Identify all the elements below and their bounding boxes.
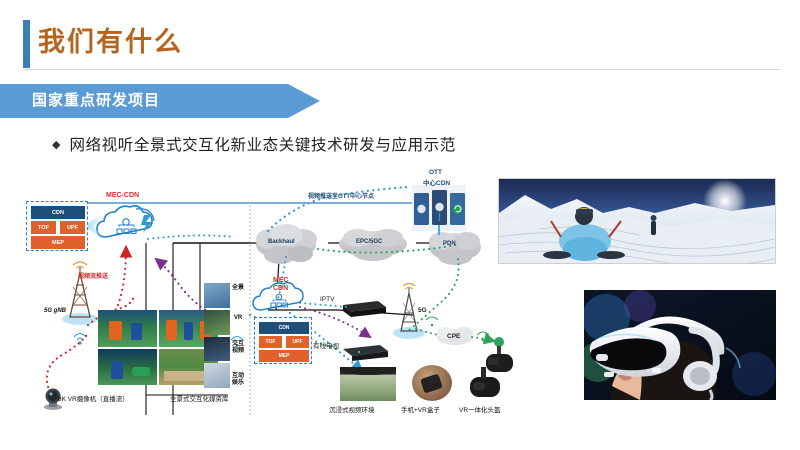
label-mec-cdn-left: MEC-CDN: [106, 192, 139, 199]
slide-header: 我们有什么: [0, 14, 800, 70]
pdn-cloud-shape: [429, 232, 481, 265]
immersive-environment-photo: [340, 367, 396, 401]
category-entertainment: 互动娱乐: [230, 373, 246, 386]
label-mec-right-line1: MEC: [273, 277, 289, 284]
label-video-push: 视频流推送: [78, 271, 108, 280]
core-cell-mep: MEP: [259, 350, 309, 362]
bullet-row: ◆ 网络视听全景式交互化新业态关键技术研发与应用示范: [52, 132, 456, 156]
section-banner-label: 国家重点研发项目: [32, 84, 160, 118]
media-thumb-2: [204, 310, 230, 335]
header-divider: [23, 69, 780, 70]
media-thumb-3: [204, 337, 230, 362]
caption-vr-headset: VR一体化头盔: [459, 404, 501, 414]
cable-tv-box-shape: [343, 345, 388, 361]
category-vr: VR: [230, 315, 246, 322]
label-backhaul: Backhaul: [268, 239, 295, 245]
core-mec-box: CDN TOF UPF MEP: [254, 317, 312, 364]
category-panorama: 全景: [230, 285, 246, 292]
label-iptv: IPTV: [320, 296, 334, 303]
label-cpe: CPE: [447, 333, 460, 340]
vr-allinone-photo: [464, 367, 504, 401]
edge-cell-tof: TOF: [31, 221, 56, 234]
label-5g: 5G: [418, 307, 427, 314]
core-cell-upf: UPF: [286, 336, 309, 348]
soccer-thumb-1: [98, 310, 157, 347]
core-cell-tof: TOF: [259, 336, 282, 348]
soccer-thumbnail-grid: [98, 310, 218, 385]
edge-cell-mep: MEP: [31, 236, 85, 249]
phone-vr-box-photo: [412, 365, 452, 401]
caption-phone-vr: 手机+VR盒子: [401, 404, 440, 414]
label-video-push-ott: 视频推送至OTT中心节点: [308, 191, 374, 200]
category-rail: 全景 VR 交互视频 互动娱乐: [230, 285, 246, 390]
page-title: 我们有什么: [38, 20, 183, 64]
media-thumb-1: [204, 283, 230, 308]
media-library-strip: [204, 283, 230, 388]
wifi-icon-left: [74, 334, 86, 345]
media-thumb-4: [204, 363, 230, 388]
panorama-ski-image: [499, 179, 775, 263]
left-mec-cloud-shape: [97, 206, 154, 237]
category-interactive-video: 交互视频: [230, 341, 246, 354]
label-epc-5gc: EPC/5GC: [356, 239, 382, 245]
edge-cell-upf: UPF: [60, 221, 85, 234]
caption-media-library: 全景式交互化媒资库: [170, 393, 229, 403]
label-cable-tv: 有线电视: [313, 340, 339, 350]
ott-servers-shape: [412, 185, 466, 231]
edge-mec-box: CDN TOF UPF MEP: [26, 201, 88, 251]
label-ott-line1: OTT: [429, 169, 442, 176]
section-banner: 国家重点研发项目: [0, 84, 320, 118]
label-ott-line2: 中心CDN: [423, 177, 450, 187]
caption-immersive: 沉浸式视频环境: [329, 404, 375, 414]
bullet-text: 网络视听全景式交互化新业态关键技术研发与应用示范: [69, 133, 455, 155]
architecture-diagram: CDN TOF UPF MEP CDN TOF UPF MEP MEC-CDN …: [18, 165, 518, 415]
vr-headset-image: [584, 290, 776, 400]
skier-far: [651, 215, 657, 235]
title-accent-bar: [23, 20, 30, 68]
label-mec-right-line2: CDN: [273, 285, 288, 292]
epc5gc-cloud-shape: [339, 229, 407, 261]
soccer-thumb-3: [98, 349, 157, 386]
label-gnb: 5G gNB: [44, 308, 66, 314]
panorama-ski-photo: [498, 178, 776, 264]
core-cell-cdn: CDN: [259, 322, 309, 334]
vr-headset-photo: [584, 290, 776, 400]
caption-8k-camera: 8K VR摄像机（直播流）: [58, 393, 129, 403]
wifi-icon-mid: [426, 317, 438, 326]
iptv-box-shape: [343, 301, 386, 317]
label-pdn: PDN: [443, 241, 456, 247]
edge-cell-cdn: CDN: [31, 206, 85, 219]
bullet-diamond-icon: ◆: [52, 138, 60, 151]
